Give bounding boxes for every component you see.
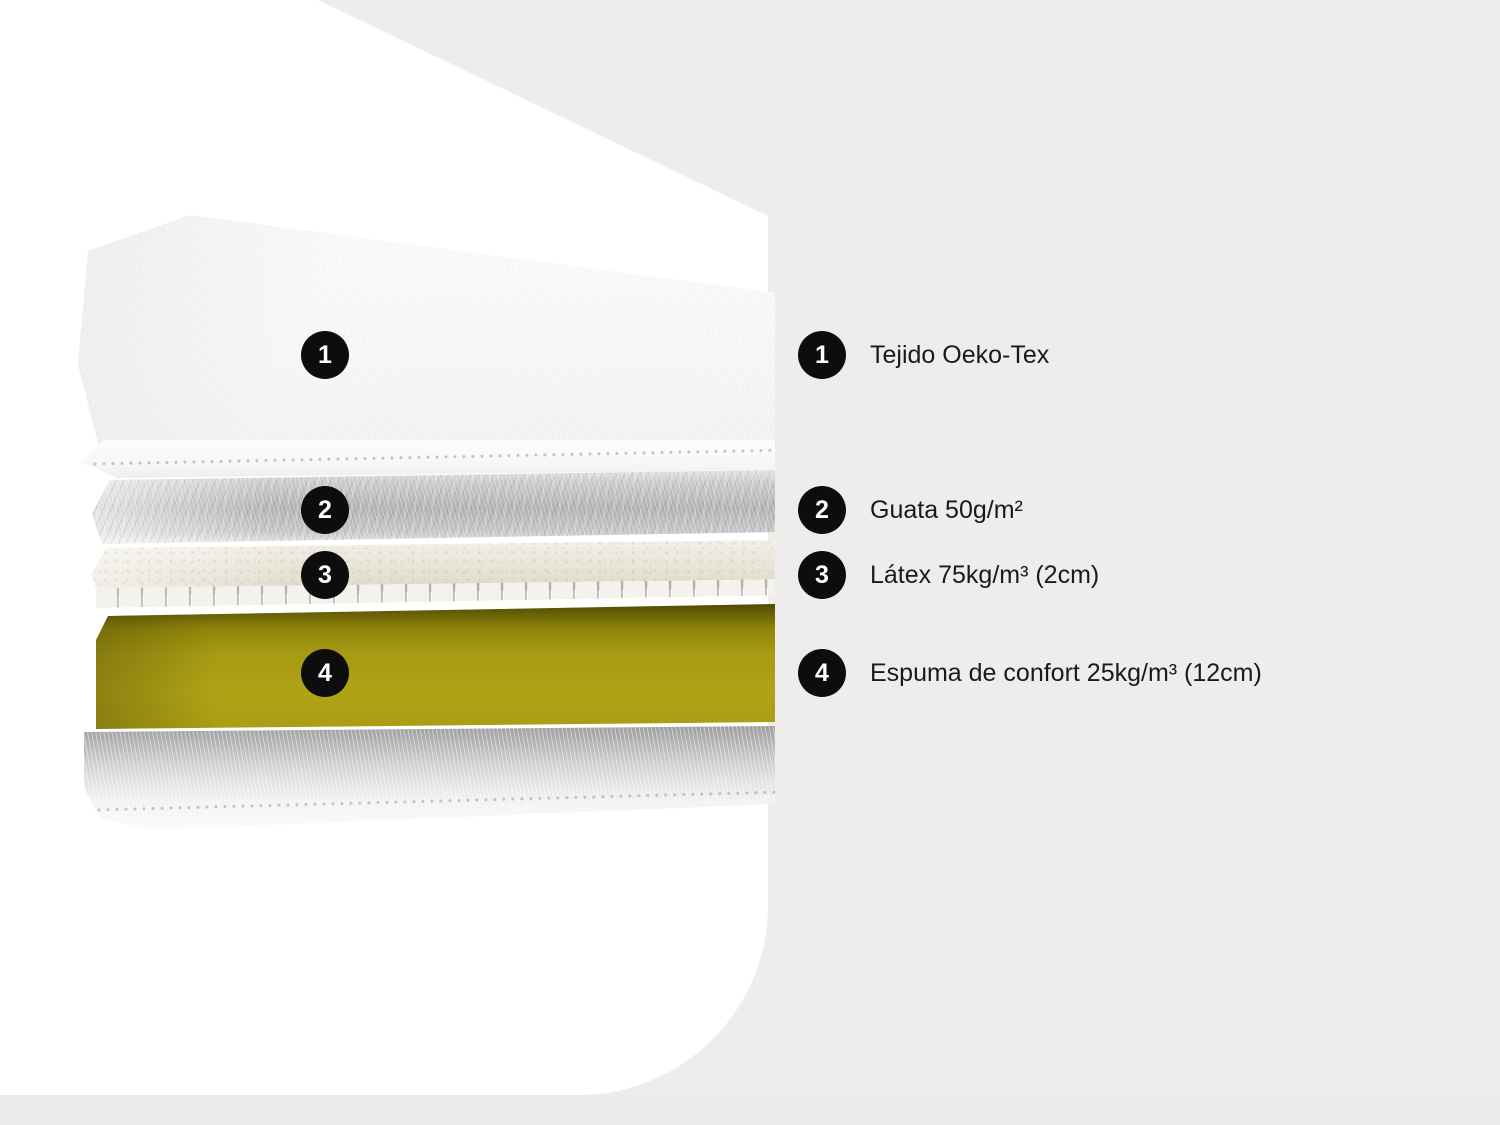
- legend-item-guata: 2 Guata 50g/m²: [798, 486, 1023, 534]
- legend: 1 Tejido Oeko-Tex 2 Guata 50g/m² 3 Látex…: [798, 0, 1498, 1125]
- legend-label-1: Tejido Oeko-Tex: [870, 341, 1049, 370]
- mattress-stack: 1 2 3 4: [0, 0, 775, 1125]
- diagram-badge-3: 3: [301, 551, 349, 599]
- legend-item-tejido-oeko-tex: 1 Tejido Oeko-Tex: [798, 331, 1049, 379]
- legend-label-3: Látex 75kg/m³ (2cm): [870, 561, 1099, 590]
- layer-tejido-oeko-tex: [78, 215, 775, 477]
- legend-item-espuma-de-confort: 4 Espuma de confort 25kg/m³ (12cm): [798, 649, 1262, 697]
- diagram-badge-2: 2: [301, 486, 349, 534]
- legend-badge-2: 2: [798, 486, 846, 534]
- layer-guata: [92, 470, 775, 544]
- foam-left-shading: [96, 604, 216, 729]
- legend-badge-3: 3: [798, 551, 846, 599]
- legend-badge-4: 4: [798, 649, 846, 697]
- legend-item-latex: 3 Látex 75kg/m³ (2cm): [798, 551, 1099, 599]
- felt-fiber-texture: [92, 470, 775, 544]
- legend-label-2: Guata 50g/m²: [870, 496, 1023, 525]
- layer-espuma-de-confort: [96, 604, 775, 729]
- fabric-weave-texture: [78, 215, 775, 477]
- diagram-badge-1: 1: [301, 331, 349, 379]
- legend-badge-1: 1: [798, 331, 846, 379]
- mattress-layer-diagram: 1 2 3 4 1 Tejido Oeko-Tex 2 Guata 50g/m²…: [0, 0, 1500, 1125]
- layer-base-fabric: [84, 726, 775, 830]
- diagram-badge-4: 4: [301, 649, 349, 697]
- base-fabric-rib-texture: [84, 726, 775, 830]
- legend-label-4: Espuma de confort 25kg/m³ (12cm): [870, 659, 1262, 688]
